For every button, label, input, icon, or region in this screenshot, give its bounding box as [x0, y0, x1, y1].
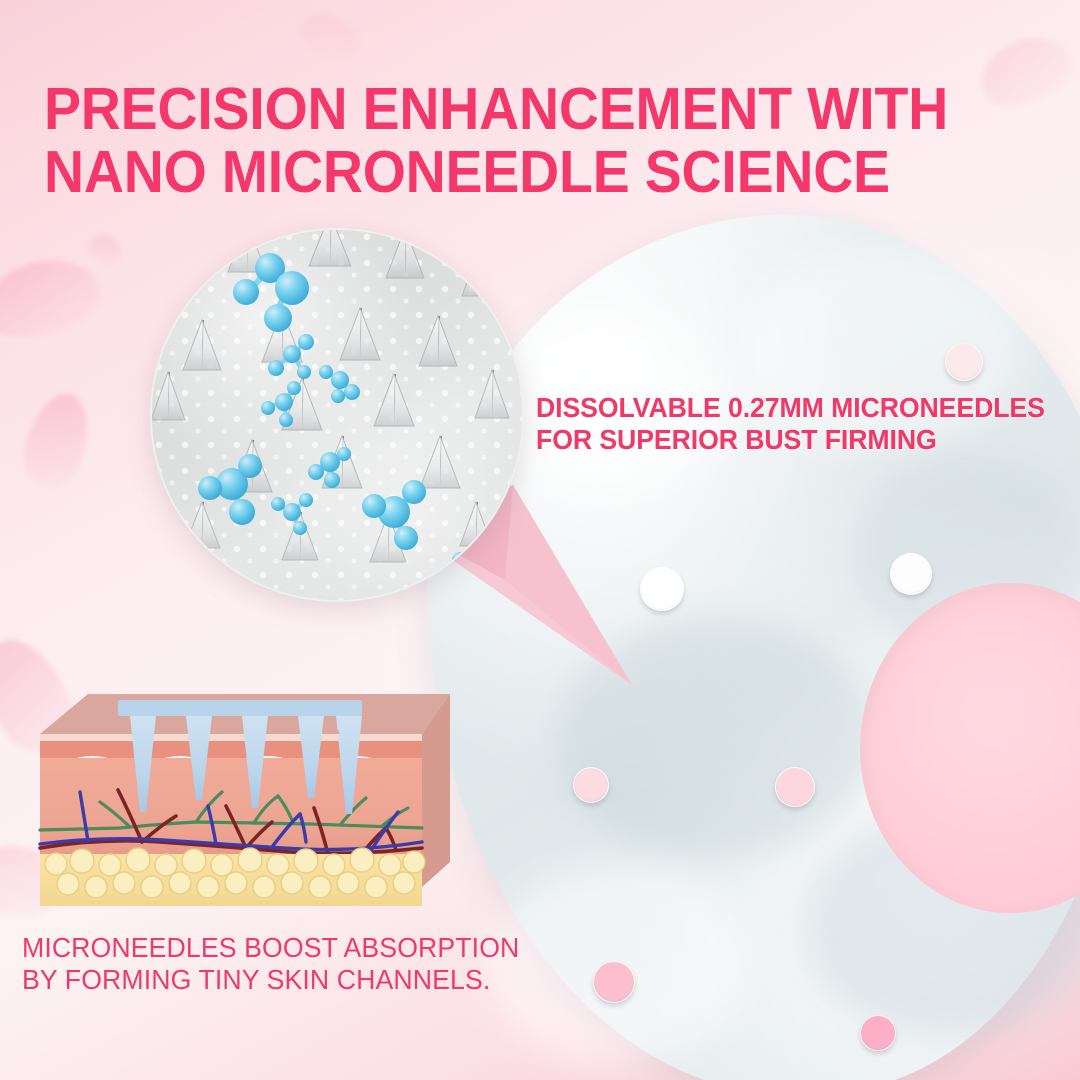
petal-decoration	[294, 6, 365, 67]
patch-dot[interactable]	[573, 767, 609, 803]
patch-dot[interactable]	[775, 767, 815, 807]
callout-needles-line-1: DISSOLVABLE 0.27MM MICRONEEDLES	[536, 392, 1050, 424]
poster-canvas: PRECISION ENHANCEMENT WITH NANO MICRONEE…	[0, 0, 1080, 1080]
callout-needles-text: DISSOLVABLE 0.27MM MICRONEEDLES FOR SUPE…	[536, 392, 1050, 456]
callout-absorption-line-2: BY FORMING TINY SKIN CHANNELS.	[22, 964, 507, 996]
substrate-speckle-texture	[152, 230, 522, 600]
stratum-corneum	[40, 734, 422, 741]
skin-cross-section	[10, 672, 460, 922]
patch-dot[interactable]	[890, 553, 932, 595]
callout-absorption-line-1: MICRONEEDLES BOOST ABSORPTION	[22, 932, 507, 964]
page-title: PRECISION ENHANCEMENT WITH NANO MICRONEE…	[44, 78, 975, 204]
petal-decoration	[16, 386, 98, 494]
patch-dot[interactable]	[860, 1015, 896, 1051]
petal-decoration	[0, 249, 107, 347]
headline-line-1: PRECISION ENHANCEMENT WITH	[44, 78, 975, 141]
magnified-needle-array[interactable]	[150, 228, 524, 602]
product-patch[interactable]	[430, 215, 1080, 1080]
petal-decoration	[84, 229, 126, 269]
callout-needles-line-2: FOR SUPERIOR BUST FIRMING	[536, 424, 1050, 456]
patch-shade	[548, 610, 880, 866]
patch-dot[interactable]	[945, 343, 983, 381]
headline-line-2: NANO MICRONEEDLE SCIENCE	[44, 141, 975, 204]
patch-dot[interactable]	[640, 567, 684, 611]
petal-decoration	[972, 26, 1080, 116]
patch-dot[interactable]	[593, 961, 635, 1003]
callout-absorption-text: MICRONEEDLES BOOST ABSORPTION BY FORMING…	[22, 932, 507, 996]
